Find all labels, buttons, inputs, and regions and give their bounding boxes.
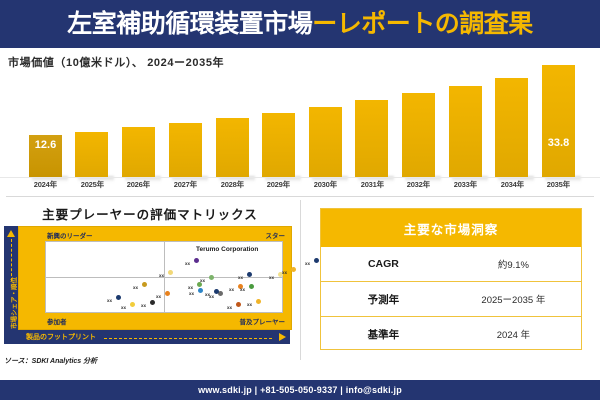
insights-row-key: CAGR bbox=[321, 258, 446, 270]
matrix-data-point bbox=[168, 270, 173, 275]
chart-bar-fill bbox=[495, 78, 528, 177]
matrix-data-point-label: xx bbox=[247, 302, 252, 307]
matrix-panel-title: 主要プレーヤーの評価マトリックス bbox=[0, 204, 300, 223]
matrix-data-point-label: xx bbox=[107, 298, 112, 303]
chart-x-tick-label: 2035年 bbox=[535, 179, 582, 190]
page-title: 左室補助循環装置市場ーレポートの調査果 bbox=[67, 12, 533, 37]
chart-bar-fill bbox=[309, 107, 342, 177]
chart-x-tick-label: 2034年 bbox=[489, 179, 536, 190]
matrix-data-point bbox=[142, 282, 147, 287]
insights-table-row: 基準年2024 年 bbox=[321, 316, 581, 351]
matrix-data-point bbox=[130, 302, 135, 307]
matrix-data-point-label: xx bbox=[269, 275, 274, 280]
matrix-data-point bbox=[249, 284, 254, 289]
matrix-data-point-label: xx bbox=[121, 305, 126, 310]
chart-baseline bbox=[0, 177, 600, 178]
chart-x-tick-label: 2031年 bbox=[349, 179, 396, 190]
page-title-primary: 左室補助循環装置市場 bbox=[67, 10, 312, 38]
section-divider-vertical bbox=[300, 200, 301, 360]
matrix-data-point bbox=[291, 267, 296, 272]
matrix-data-point-label: xx bbox=[227, 305, 232, 310]
chart-bar bbox=[262, 113, 295, 177]
matrix-data-point bbox=[116, 295, 121, 300]
quadrant-label-stars: スター bbox=[266, 230, 286, 240]
page-footer: www.sdki.jp | +81-505-050-9337 | info@sd… bbox=[0, 380, 600, 400]
insights-table-row: 予測年2025ー2035 年 bbox=[321, 281, 581, 316]
chart-bar-fill bbox=[262, 113, 295, 177]
matrix-data-point bbox=[194, 258, 199, 263]
chart-x-tick-label: 2028年 bbox=[209, 179, 256, 190]
insights-row-value: 約9.1% bbox=[446, 257, 581, 271]
matrix-plot-area: Terumo Corporationxxxxxxxxxxxxxxxxxxxxxx… bbox=[45, 241, 283, 313]
insights-row-key: 基準年 bbox=[321, 327, 446, 342]
chart-bar bbox=[449, 86, 482, 177]
bottom-section: 主要プレーヤーの評価マトリックス 市場シェア・順位 新興のリーダー スター 参加… bbox=[0, 196, 600, 380]
key-market-insights-table: 主要な市場洞察 CAGR約9.1%予測年2025ー2035 年基準年2024 年 bbox=[320, 208, 582, 350]
chart-bar bbox=[122, 127, 155, 177]
chart-x-tick-label: 2025年 bbox=[69, 179, 116, 190]
section-divider-horizontal bbox=[6, 196, 594, 197]
matrix-data-point-label: xx bbox=[159, 273, 164, 278]
chart-bar-fill bbox=[355, 100, 388, 177]
chart-x-tick-label: 2026年 bbox=[115, 179, 162, 190]
chart-bar bbox=[309, 107, 342, 177]
matrix-data-point-label: xx bbox=[305, 261, 310, 266]
matrix-data-point-label: xx bbox=[188, 285, 193, 290]
page-title-accent: ーレポートの調査果 bbox=[312, 10, 533, 38]
insights-table-body: CAGR約9.1%予測年2025ー2035 年基準年2024 年 bbox=[321, 247, 581, 351]
matrix-data-point-label: xx bbox=[282, 270, 287, 275]
chart-bar-value-label: 33.8 bbox=[542, 137, 575, 149]
chart-bar: 33.8 bbox=[542, 65, 575, 177]
matrix-data-point-label: xx bbox=[229, 287, 234, 292]
chart-bar bbox=[75, 132, 108, 177]
insights-table-row: CAGR約9.1% bbox=[321, 247, 581, 281]
chart-bar-fill bbox=[169, 123, 202, 177]
insights-row-value: 2025ー2035 年 bbox=[446, 292, 581, 306]
chart-x-tick-label: 2024年 bbox=[22, 179, 69, 190]
chart-bar-fill bbox=[449, 86, 482, 177]
chart-bar-fill bbox=[216, 118, 249, 177]
matrix-data-point-label: xx bbox=[200, 278, 205, 283]
quadrant-label-emerging-leaders: 新興のリーダー bbox=[47, 230, 93, 240]
x-axis-arrow-icon bbox=[279, 333, 286, 341]
matrix-x-axis: 製品のフットプリント bbox=[18, 330, 290, 344]
matrix-data-point-label: xx bbox=[185, 261, 190, 266]
quadrant-label-participants: 参加者 bbox=[47, 316, 67, 326]
chart-bar bbox=[216, 118, 249, 177]
chart-bar bbox=[495, 78, 528, 177]
chart-x-tick-label: 2030年 bbox=[302, 179, 349, 190]
matrix-data-point bbox=[236, 302, 241, 307]
chart-x-tick-label: 2027年 bbox=[162, 179, 209, 190]
bar-chart-plot-area: 12.633.8 bbox=[0, 48, 600, 178]
chart-bar-fill bbox=[75, 132, 108, 177]
matrix-chart: 新興のリーダー スター 参加者 普及プレーヤー Terumo Corporati… bbox=[18, 226, 292, 330]
insights-table-header: 主要な市場洞察 bbox=[321, 209, 581, 247]
matrix-data-point-label: xx bbox=[205, 292, 210, 297]
matrix-data-point-label: xx bbox=[240, 287, 245, 292]
x-axis-dashes bbox=[104, 338, 272, 339]
market-value-chart-panel: 市場価値（10億米ドル）、 2024ー2035年 12.633.8 2024年2… bbox=[0, 48, 600, 196]
matrix-data-point-label: xx bbox=[189, 291, 194, 296]
chart-bar-fill bbox=[402, 93, 435, 177]
chart-x-tick-label: 2032年 bbox=[395, 179, 442, 190]
quadrant-label-pervasive-players: 普及プレーヤー bbox=[240, 316, 286, 326]
matrix-data-point bbox=[165, 291, 170, 296]
chart-bar: 12.6 bbox=[29, 135, 62, 177]
chart-bar-fill bbox=[542, 65, 575, 177]
insights-row-value: 2024 年 bbox=[446, 327, 581, 341]
chart-bar bbox=[169, 123, 202, 177]
matrix-data-point bbox=[314, 258, 319, 263]
matrix-data-point-label: xx bbox=[238, 275, 243, 280]
footer-contact-text: www.sdki.jp | +81-505-050-9337 | info@sd… bbox=[198, 385, 402, 395]
chart-bar bbox=[355, 100, 388, 177]
insights-row-key: 予測年 bbox=[321, 292, 446, 307]
chart-bar-value-label: 12.6 bbox=[29, 139, 62, 151]
chart-x-tick-label: 2033年 bbox=[442, 179, 489, 190]
matrix-data-point-label: xx bbox=[133, 285, 138, 290]
matrix-data-point bbox=[150, 300, 155, 305]
matrix-source-note: ソース：SDKI Analytics 分析 bbox=[4, 356, 97, 366]
matrix-y-axis-label: 市場シェア・順位 bbox=[8, 273, 18, 333]
page-header: 左室補助循環装置市場ーレポートの調査果 bbox=[0, 0, 600, 48]
y-axis-arrow-icon bbox=[7, 230, 15, 237]
matrix-x-axis-label: 製品のフットプリント bbox=[26, 332, 96, 342]
matrix-data-point bbox=[247, 272, 252, 277]
chart-bar-fill bbox=[122, 127, 155, 177]
matrix-data-point bbox=[209, 275, 214, 280]
chart-x-tick-label: 2029年 bbox=[255, 179, 302, 190]
matrix-data-point-label: xx bbox=[141, 303, 146, 308]
matrix-data-point bbox=[256, 299, 261, 304]
matrix-y-axis: 市場シェア・順位 bbox=[4, 226, 18, 344]
matrix-data-point bbox=[198, 288, 203, 293]
chart-bar bbox=[402, 93, 435, 177]
matrix-highlighted-player-label: Terumo Corporation bbox=[196, 246, 258, 253]
matrix-data-point-label: xx bbox=[156, 294, 161, 299]
matrix-data-point bbox=[214, 289, 219, 294]
